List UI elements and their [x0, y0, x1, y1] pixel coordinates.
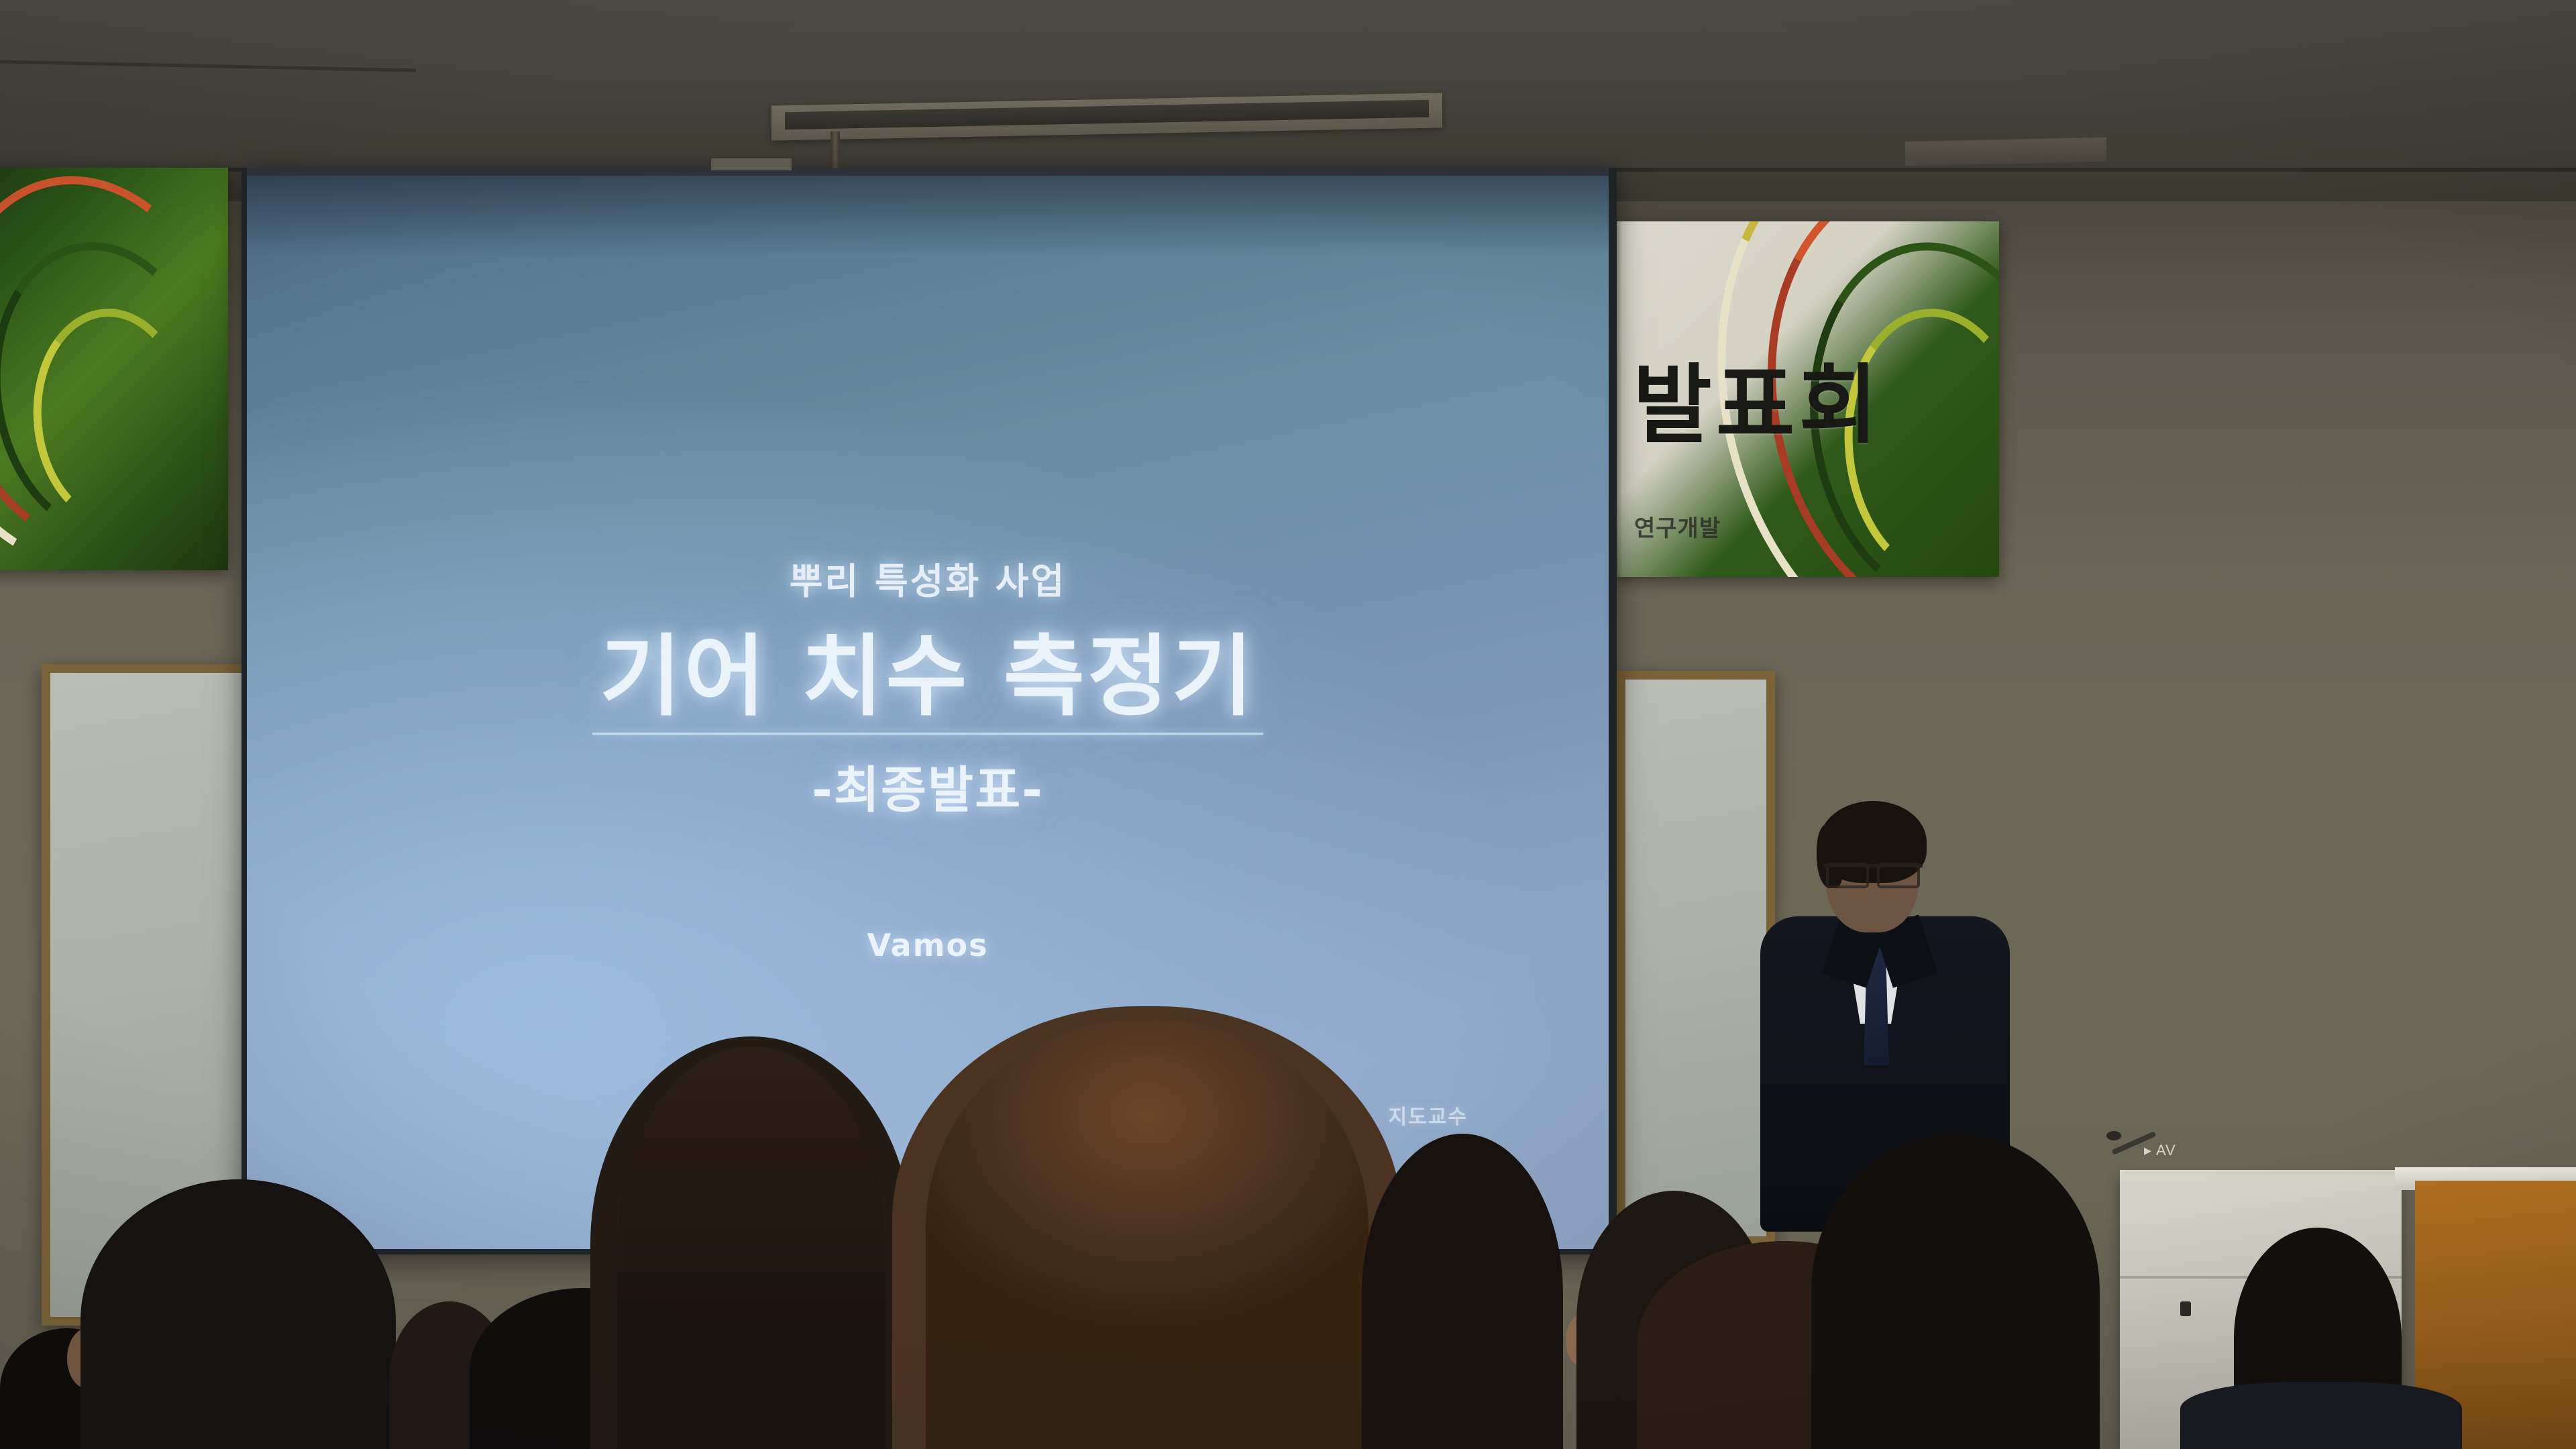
projection-screen: 뿌리 특성화 사업 기어 치수 측정기 -최종발표- Vamos 지도교수 발표… — [247, 176, 1609, 1249]
audience-head — [80, 1179, 396, 1449]
ceiling-vent — [1905, 138, 2106, 166]
slide-divider-rule — [592, 733, 1263, 735]
photo-scene: 발표회 연구개발 뿌리 특성화 사업 기어 치수 측정기 -최종발표- Vamo… — [0, 0, 2576, 1449]
slide-kicker: 뿌리 특성화 사업 — [247, 551, 1609, 604]
audience-shoulders — [2180, 1382, 2462, 1449]
audience-head — [1811, 1134, 2100, 1449]
microphone-head-icon — [2106, 1131, 2121, 1140]
banner-right: 발표회 연구개발 — [1610, 221, 1999, 577]
slide-credit-advisor: 지도교수 — [1389, 1100, 1468, 1130]
screen-top-shadow — [247, 176, 1609, 256]
slide-subtitle: -최종발표- — [247, 750, 1609, 822]
av-cart-knob — [2180, 1301, 2191, 1316]
presenter-glasses-bridge — [1823, 864, 1923, 885]
audience-head-highlight — [926, 1020, 1368, 1449]
banner-left — [0, 168, 228, 570]
slide-title: 기어 치수 측정기 — [247, 605, 1609, 733]
projection-screen-pull-tab — [711, 158, 792, 170]
audience-head — [1362, 1134, 1563, 1449]
slide-team-name: Vamos — [247, 927, 1609, 963]
audience-head-highlight — [617, 1046, 885, 1449]
banner-right-subtitle: 연구개발 — [1634, 510, 1721, 543]
banner-right-title: 발표회 — [1633, 335, 1882, 460]
av-cart-label: ▸ AV — [2144, 1142, 2176, 1159]
